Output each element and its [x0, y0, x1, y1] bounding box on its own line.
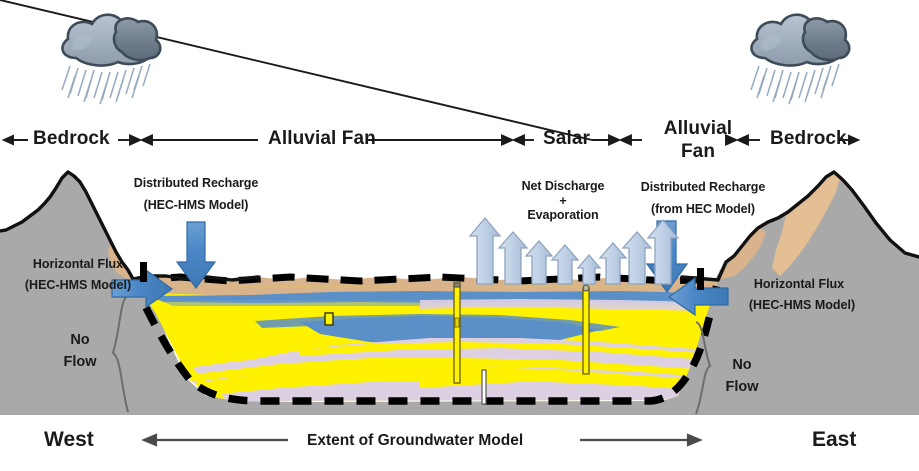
cross-section-geology: [0, 0, 919, 471]
annotation-horizontal-flux-east-line2: (HEC-HMS Model): [726, 297, 878, 314]
annotation-horizontal-flux-west-line1: Horizontal Flux: [12, 256, 144, 273]
annotation-horizontal-flux-west-line2: (HEC-HMS Model): [2, 277, 154, 294]
annotation-net-discharge-line1: Net Discharge: [503, 179, 623, 194]
annotation-no-flow-west-line2: Flow: [53, 352, 107, 374]
borehole-marker: [325, 313, 333, 325]
flux-tick-east: [697, 268, 704, 290]
well-casing-center: [482, 370, 486, 404]
annotation-no-flow-east-line1: No: [715, 355, 769, 377]
zone-label-alluvial-fan-west: Alluvial Fan: [268, 128, 376, 150]
annotation-distributed-recharge-west-line1: Distributed Recharge: [126, 176, 266, 191]
monitoring-well-left: [454, 283, 460, 383]
annotation-net-discharge-line2: +: [503, 194, 623, 209]
evaporation-arrows: [470, 218, 678, 284]
rain-cloud-east: [751, 15, 849, 104]
annotation-distributed-recharge-west-line2: (HEC-HMS Model): [126, 198, 266, 213]
annotation-no-flow-west-line1: No: [53, 330, 107, 352]
zone-label-bedrock-east: Bedrock: [770, 128, 847, 150]
compass-label-west: West: [44, 428, 94, 453]
monitoring-well-right: [583, 285, 589, 374]
annotation-no-flow-east-line2: Flow: [715, 377, 769, 399]
rain-cloud-west: [62, 15, 160, 104]
annotation-net-discharge-line3: Evaporation: [503, 208, 623, 223]
zone-label-alluvial-fan-east-line2: Fan: [663, 141, 733, 163]
zone-label-bedrock-west: Bedrock: [33, 128, 110, 150]
extent-label: Extent of Groundwater Model: [307, 432, 523, 450]
compass-label-east: East: [812, 428, 856, 453]
zone-label-alluvial-fan-east-line1: Alluvial: [663, 118, 733, 140]
annotation-horizontal-flux-east-line1: Horizontal Flux: [729, 276, 869, 293]
annotation-distributed-recharge-east-line2: (from HEC Model): [633, 202, 773, 217]
diagram-canvas: Bedrock Alluvial Fan Salar Alluvial Fan …: [0, 0, 919, 471]
annotation-distributed-recharge-east-line1: Distributed Recharge: [633, 180, 773, 195]
zone-label-salar: Salar: [543, 128, 590, 150]
